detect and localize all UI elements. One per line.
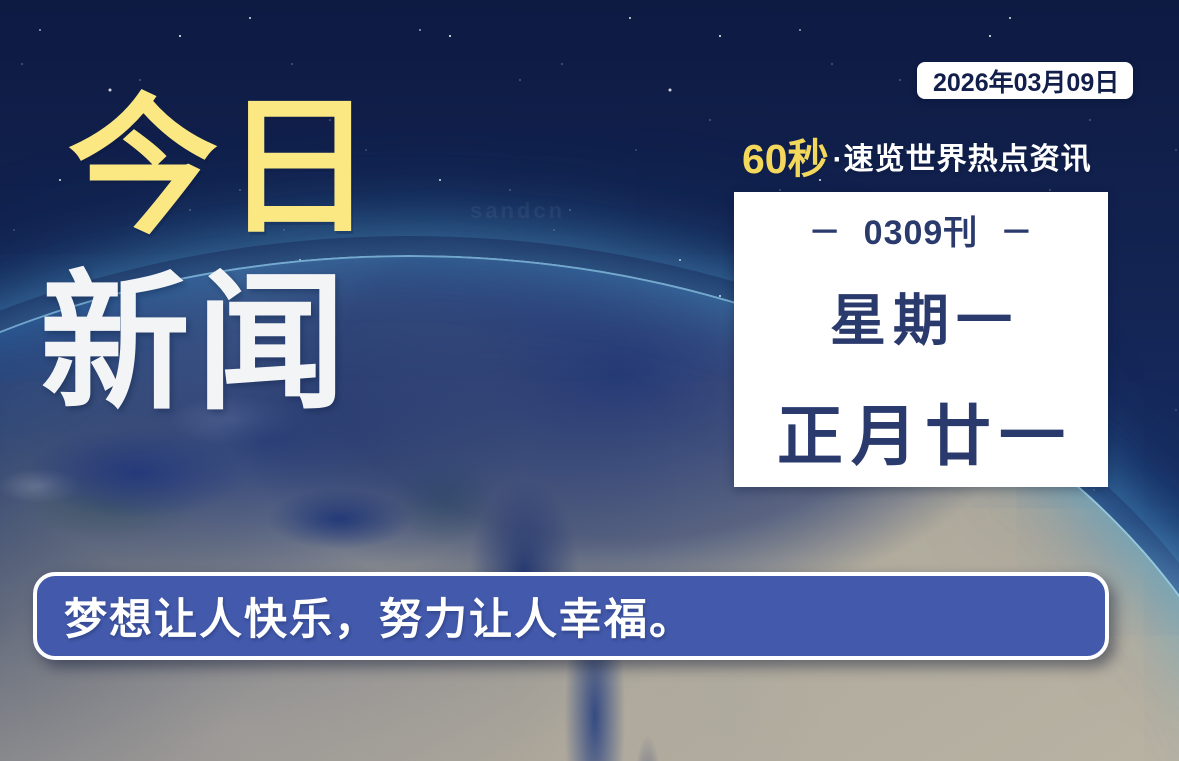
poster-title: 今日 新闻 bbox=[0, 92, 470, 418]
title-line-news: 新闻 bbox=[0, 268, 470, 418]
title-line-today: 今日 bbox=[0, 92, 470, 242]
slogan-seconds: 60秒 bbox=[742, 139, 829, 180]
lunar-date-label: 正月廿一 bbox=[769, 383, 1073, 479]
issue-number: 0309刊 bbox=[864, 205, 979, 254]
weekday-label: 星期一 bbox=[823, 276, 1019, 357]
date-badge: 2026年03月09日 bbox=[917, 62, 1133, 99]
quote-bar: 梦想让人快乐，努力让人幸福。 bbox=[33, 572, 1109, 660]
info-card: － 0309刊 － 星期一 正月廿一 bbox=[734, 192, 1108, 487]
issue-dash-right: － bbox=[1000, 207, 1033, 253]
slogan-line: 60秒 ·速览世界热点资讯 bbox=[742, 139, 1092, 180]
issue-dash-left: － bbox=[809, 207, 842, 253]
issue-row: － 0309刊 － bbox=[809, 205, 1034, 254]
slogan-description: ·速览世界热点资讯 bbox=[833, 142, 1092, 180]
watermark-text: sandcn bbox=[470, 198, 565, 224]
poster-canvas: sandcn 今日 新闻 2026年03月09日 60秒 ·速览世界热点资讯 －… bbox=[0, 0, 1179, 761]
quote-text: 梦想让人快乐，努力让人幸福。 bbox=[37, 585, 694, 647]
